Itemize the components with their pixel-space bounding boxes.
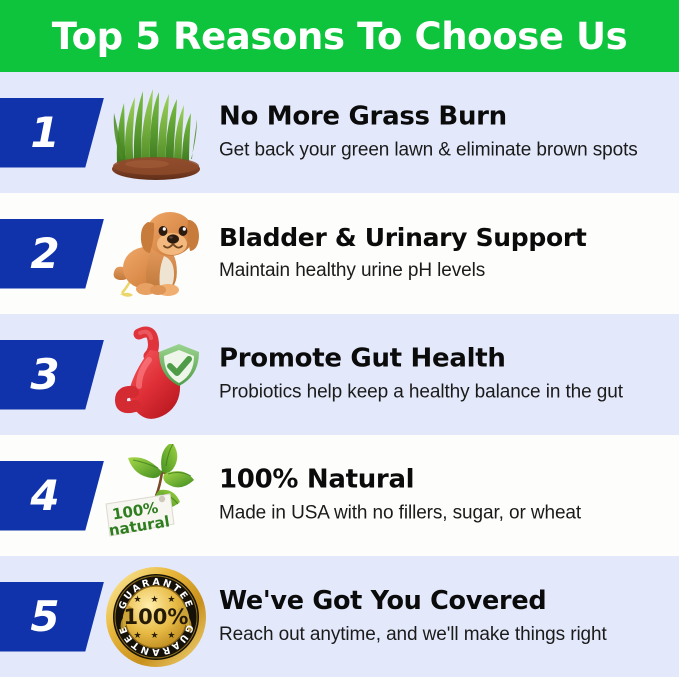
- reason-number-badge: 5: [0, 582, 104, 652]
- svg-text:★ ★ ★: ★ ★ ★: [134, 631, 179, 641]
- reasons-list: 1: [0, 72, 679, 679]
- reason-title: We've Got You Covered: [219, 586, 669, 615]
- reason-number-badge: 2: [0, 219, 104, 289]
- badge-number: 5: [0, 582, 104, 652]
- page-title: Top 5 Reasons To Choose Us: [52, 15, 628, 58]
- natural-leaf-tag-icon: 100% natural: [100, 440, 212, 552]
- reason-description: Reach out anytime, and we'll make things…: [219, 621, 669, 646]
- list-item: 2: [0, 193, 679, 314]
- svg-text:★ ★ ★: ★ ★ ★: [134, 595, 179, 605]
- badge-number: 2: [0, 219, 104, 289]
- badge-number: 3: [0, 340, 104, 410]
- reason-number-badge: 1: [0, 98, 104, 168]
- reason-text: Bladder & Urinary Support Maintain healt…: [219, 224, 669, 284]
- reason-text: 100% Natural Made in USA with no fillers…: [219, 465, 669, 526]
- reason-description: Probiotics help keep a healthy balance i…: [219, 380, 669, 405]
- header-banner: Top 5 Reasons To Choose Us: [0, 0, 679, 72]
- reason-number-badge: 3: [0, 340, 104, 410]
- badge-number: 1: [0, 98, 104, 168]
- reason-description: Maintain healthy urine pH levels: [219, 258, 669, 283]
- reason-text: No More Grass Burn Get back your green l…: [219, 102, 669, 163]
- puppy-icon: [100, 198, 212, 310]
- list-item: 3: [0, 314, 679, 435]
- reason-description: Get back your green lawn & eliminate bro…: [219, 138, 669, 163]
- infographic-page: Top 5 Reasons To Choose Us 1: [0, 0, 679, 679]
- guarantee-seal-icon: ★ ★ ★ ★ ★ ★ 100% GUARANTEE GUARANTEE: [100, 561, 212, 673]
- list-item: 5: [0, 556, 679, 677]
- list-item: 1: [0, 72, 679, 193]
- list-item: 4: [0, 435, 679, 556]
- grass-clump-icon: [100, 77, 212, 189]
- reason-description: Made in USA with no fillers, sugar, or w…: [219, 501, 669, 526]
- reason-text: We've Got You Covered Reach out anytime,…: [219, 586, 669, 646]
- reason-title: 100% Natural: [219, 465, 669, 495]
- seal-center-text: 100%: [124, 605, 189, 629]
- reason-title: Bladder & Urinary Support: [219, 224, 669, 253]
- badge-number: 4: [0, 461, 104, 531]
- reason-title: Promote Gut Health: [219, 344, 669, 374]
- stomach-shield-icon: [100, 319, 212, 431]
- reason-title: No More Grass Burn: [219, 102, 669, 132]
- reason-number-badge: 4: [0, 461, 104, 531]
- reason-text: Promote Gut Health Probiotics help keep …: [219, 344, 669, 405]
